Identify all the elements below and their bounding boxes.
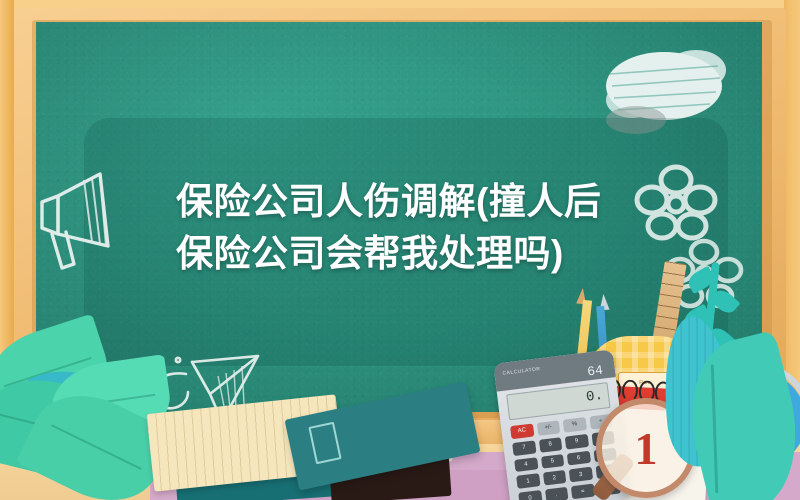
calculator-key: 6 <box>567 450 591 465</box>
calculator-key: = <box>571 484 595 499</box>
calculator-key: 2 <box>542 470 566 485</box>
calculator-key: 4 <box>514 457 538 472</box>
calculator-display: 64 <box>586 363 603 380</box>
calculator-key: +/- <box>536 420 560 435</box>
headline-line-2: 保险公司会帮我处理吗) <box>176 233 564 274</box>
calculator-key: . <box>545 487 569 500</box>
calculator-key: AC <box>510 424 534 439</box>
calculator-key: 8 <box>538 437 562 452</box>
calculator-key: 9 <box>565 434 589 449</box>
calculator-key: % <box>563 417 587 432</box>
calculator-key: 5 <box>540 454 564 469</box>
calculator-key: 0 <box>518 490 542 500</box>
page-title: 保险公司人伤调解(撞人后保险公司会帮我处理吗) <box>176 176 646 280</box>
magnified-number: 1 <box>635 422 658 475</box>
calculator-key: 1 <box>516 474 540 489</box>
cover-image-canvas: 保险公司人伤调解(撞人后保险公司会帮我处理吗) Flora School <box>0 0 800 500</box>
headline-line-1: 保险公司人伤调解(撞人后 <box>176 181 601 222</box>
calculator-key: 7 <box>512 440 536 455</box>
calculator-key: 3 <box>569 467 593 482</box>
